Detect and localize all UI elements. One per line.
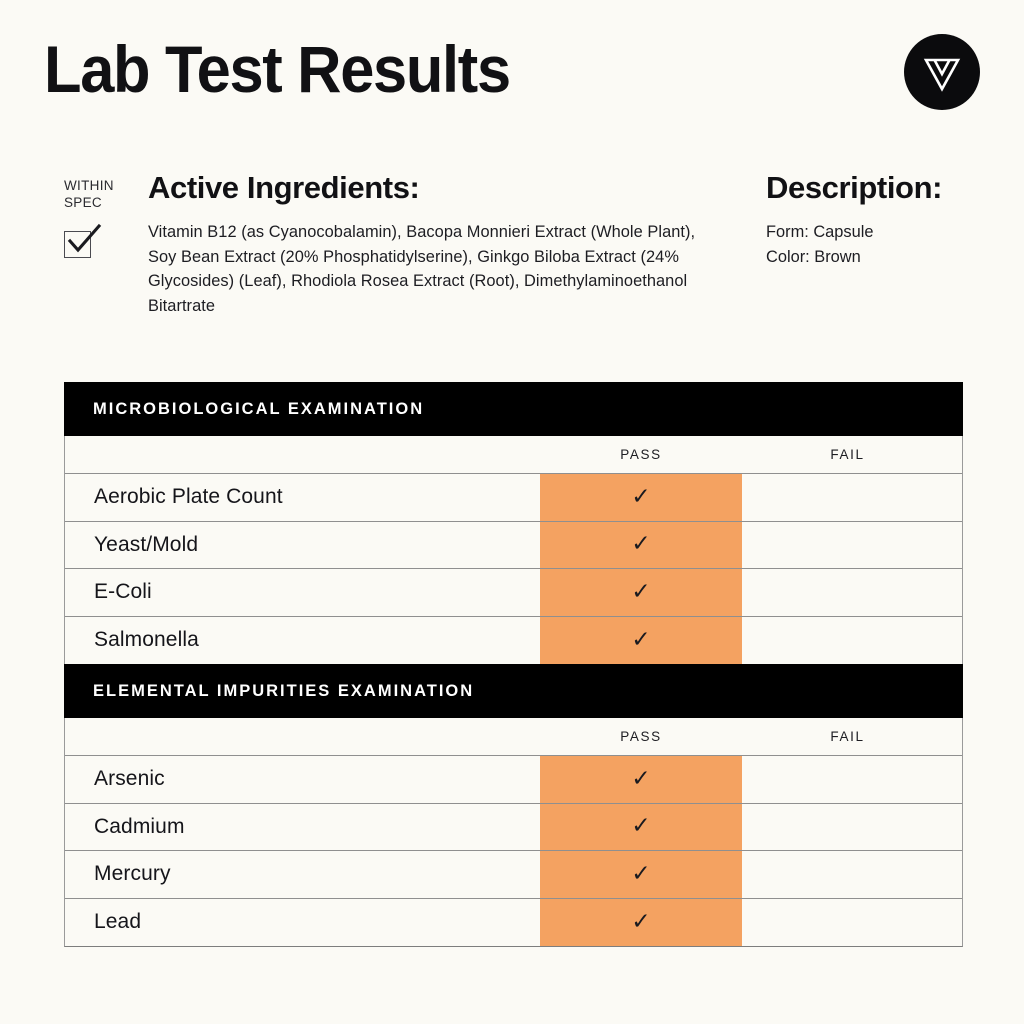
checkmark-icon: ✓	[631, 815, 650, 838]
section-grid-elemental-impurities: PASS FAIL Arsenic ✓ Cadmium ✓	[64, 718, 963, 947]
pass-cell[interactable]: ✓	[540, 533, 742, 556]
test-name: Aerobic Plate Count	[65, 485, 540, 509]
table-row: Arsenic ✓	[65, 756, 962, 804]
pass-cell[interactable]: ✓	[540, 863, 742, 886]
checkmark-icon: ✓	[631, 911, 650, 934]
section-grid-microbiological: PASS FAIL Aerobic Plate Count ✓ Yeast/Mo…	[64, 436, 963, 664]
checkmark-icon	[67, 223, 103, 257]
results-table: MICROBIOLOGICAL EXAMINATION PASS FAIL Ae…	[64, 382, 963, 947]
test-name: E-Coli	[65, 580, 540, 604]
description-form: Form: Capsule	[766, 220, 1024, 245]
test-name: Mercury	[65, 862, 540, 886]
section-title: ELEMENTAL IMPURITIES EXAMINATION	[93, 682, 474, 701]
test-name: Cadmium	[65, 815, 540, 839]
table-row: Salmonella ✓	[65, 617, 962, 665]
description-heading: Description:	[766, 170, 1024, 206]
column-header-fail: FAIL	[742, 447, 953, 462]
info-band: WITHIN SPEC Active Ingredients: Vitamin …	[64, 170, 974, 360]
pass-cell[interactable]: ✓	[540, 768, 742, 791]
triangle-v-logo-icon	[904, 34, 980, 110]
pass-cell[interactable]: ✓	[540, 486, 742, 509]
within-spec-group: WITHIN SPEC	[64, 178, 150, 258]
table-row: E-Coli ✓	[65, 569, 962, 617]
active-ingredients-heading: Active Ingredients:	[148, 170, 708, 206]
description-column: Description: Form: Capsule Color: Brown	[766, 170, 1024, 269]
column-header-row: PASS FAIL	[65, 718, 962, 756]
section-header-elemental-impurities: ELEMENTAL IMPURITIES EXAMINATION	[64, 664, 963, 718]
table-row: Cadmium ✓	[65, 804, 962, 852]
active-ingredients-text: Vitamin B12 (as Cyanocobalamin), Bacopa …	[148, 220, 708, 318]
table-row: Aerobic Plate Count ✓	[65, 474, 962, 522]
table-row: Mercury ✓	[65, 851, 962, 899]
test-name: Yeast/Mold	[65, 533, 540, 557]
checkmark-icon: ✓	[631, 581, 650, 604]
test-name: Salmonella	[65, 628, 540, 652]
column-header-pass: PASS	[540, 729, 742, 744]
pass-cell[interactable]: ✓	[540, 911, 742, 934]
active-ingredients-column: Active Ingredients: Vitamin B12 (as Cyan…	[148, 170, 708, 318]
lab-test-results-page: Lab Test Results WITHIN SPEC Active Ingr…	[0, 0, 1024, 1024]
checkmark-icon: ✓	[631, 768, 650, 791]
page-title: Lab Test Results	[44, 32, 914, 106]
pass-cell[interactable]: ✓	[540, 629, 742, 652]
section-header-microbiological: MICROBIOLOGICAL EXAMINATION	[64, 382, 963, 436]
test-name: Lead	[65, 910, 540, 934]
table-row: Lead ✓	[65, 899, 962, 947]
column-header-pass: PASS	[540, 447, 742, 462]
pass-cell[interactable]: ✓	[540, 815, 742, 838]
checkmark-icon: ✓	[631, 629, 650, 652]
column-header-row: PASS FAIL	[65, 436, 962, 474]
checkmark-icon: ✓	[631, 486, 650, 509]
within-spec-label: WITHIN SPEC	[64, 178, 150, 211]
page-header: Lab Test Results	[44, 32, 980, 128]
description-color: Color: Brown	[766, 245, 1024, 270]
table-row: Yeast/Mold ✓	[65, 522, 962, 570]
column-header-fail: FAIL	[742, 729, 953, 744]
within-spec-checkbox[interactable]	[64, 231, 91, 258]
test-name: Arsenic	[65, 767, 540, 791]
checkmark-icon: ✓	[631, 533, 650, 556]
checkmark-icon: ✓	[631, 863, 650, 886]
section-title: MICROBIOLOGICAL EXAMINATION	[93, 400, 424, 419]
pass-cell[interactable]: ✓	[540, 581, 742, 604]
